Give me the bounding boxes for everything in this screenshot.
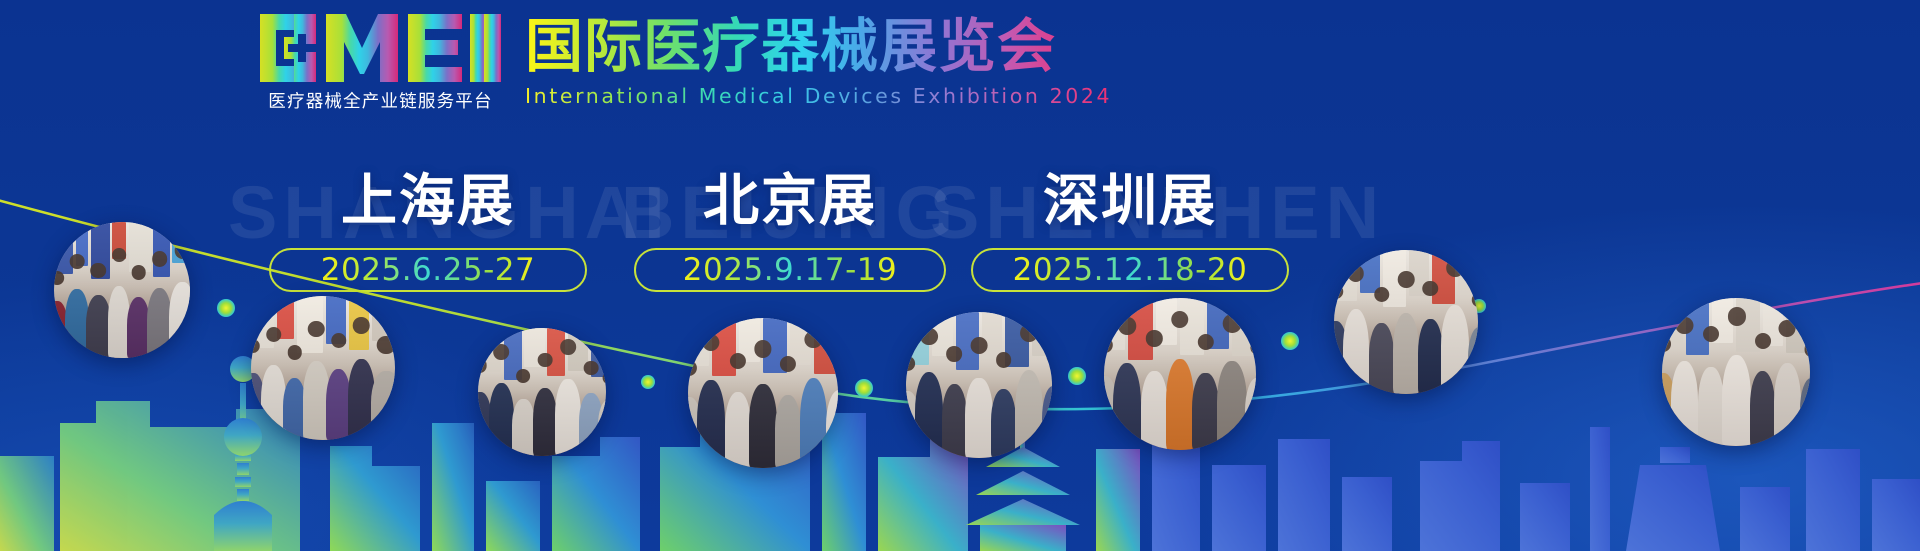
expo-crowd-photo-5 [906, 312, 1052, 458]
photo-circle-group [0, 0, 1920, 551]
expo-crowd-photo-3 [478, 328, 606, 456]
expo-crowd-photo-4 [688, 318, 838, 468]
expo-crowd-photo-7 [1334, 250, 1478, 394]
expo-crowd-photo-1 [54, 222, 190, 358]
exhibition-banner: 医疗器械全产业链服务平台 国际医疗器械展览会 International Med… [0, 0, 1920, 551]
expo-crowd-photo-6 [1104, 298, 1256, 450]
expo-crowd-photo-2 [251, 296, 395, 440]
expo-crowd-photo-8 [1662, 298, 1810, 446]
